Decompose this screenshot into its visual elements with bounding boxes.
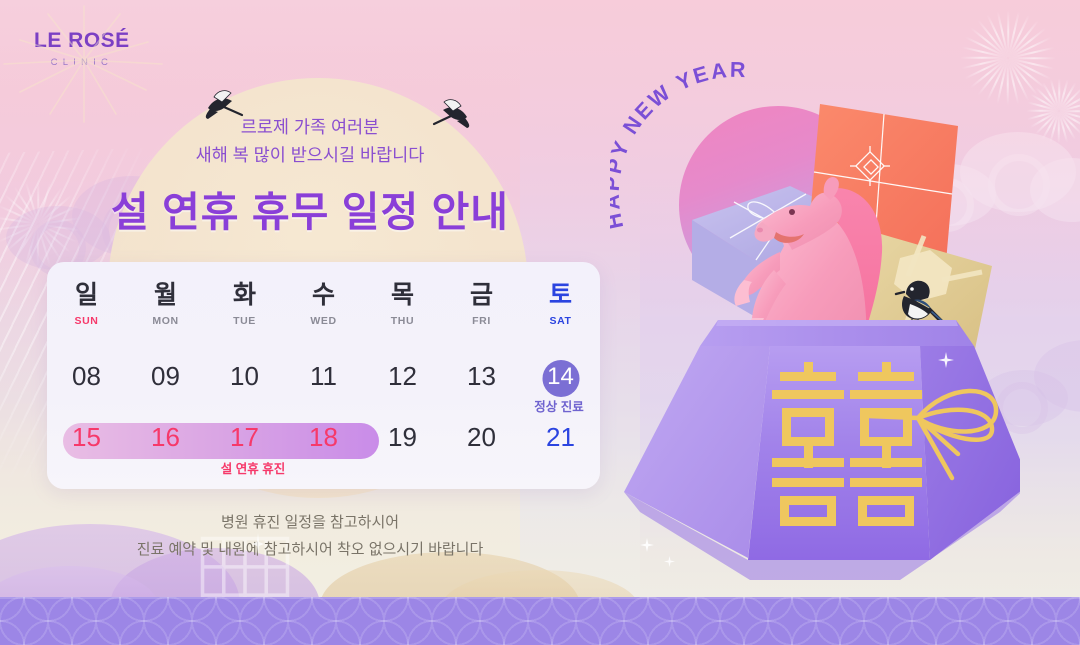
holiday-closed-label: 설 연휴 휴진: [221, 458, 285, 477]
weekday-ko: 수: [284, 283, 363, 308]
date-number: 09: [126, 358, 205, 394]
date-cell-18: 18: [284, 419, 363, 477]
calendar-card: 일 SUN 월 MON 화 TUE 수 WED 목 THU 금 FRI: [47, 262, 600, 489]
sparkle-icon: [252, 533, 264, 555]
weekday-header-fri: 금 FRI: [442, 262, 521, 327]
date-cell-21: 21: [521, 419, 600, 477]
sparkle-icon: [938, 352, 954, 368]
bottom-pattern-band: [0, 597, 1080, 645]
weekday-ko: 월: [126, 283, 205, 308]
date-number: 11: [284, 358, 363, 394]
date-cell-16: 16: [126, 419, 205, 477]
date-number: 14: [521, 358, 600, 395]
weekday-en: THU: [363, 315, 442, 327]
date-number: 16: [126, 419, 205, 455]
weekday-header-mon: 월 MON: [126, 262, 205, 327]
weekday-ko: 일: [47, 283, 126, 308]
date-cell-11: 11: [284, 358, 363, 416]
date-cell-09: 09: [126, 358, 205, 416]
date-number: 21: [521, 419, 600, 455]
date-number: 08: [47, 358, 126, 394]
band-top-edge: [0, 597, 1080, 599]
date-cell-10: 10: [205, 358, 284, 416]
date-number: 17: [205, 419, 284, 455]
date-cell-20: 20: [442, 419, 521, 477]
sparkle-icon: [664, 556, 675, 567]
date-number: 10: [205, 358, 284, 394]
brand-logo[interactable]: LE ROSÉ CLINIC: [34, 30, 130, 68]
date-cell-08: 08: [47, 358, 126, 416]
shippo-pattern: [0, 597, 1080, 645]
logo-rays-icon: [0, 2, 168, 124]
date-cell-19: 19: [363, 419, 442, 477]
date-number: 15: [47, 419, 126, 455]
calendar-week-row: 15 16 17 18 19 20 21: [47, 419, 600, 477]
weekday-en: TUE: [205, 315, 284, 327]
calendar-week-row: 08 09 10 11 12 13 14: [47, 358, 600, 416]
weekday-en: MON: [126, 315, 205, 327]
weekday-en: WED: [284, 315, 363, 327]
poster: LE ROSÉ CLINIC 르로제 가족 여러분 새해 복 많이 받으시길 바…: [0, 0, 1080, 645]
weekday-ko: 토: [521, 283, 600, 308]
weekday-header-tue: 화 TUE: [205, 262, 284, 327]
date-cell-12: 12: [363, 358, 442, 416]
date-cell-13: 13: [442, 358, 521, 416]
page-title: 설 연휴 휴무 일정 안내: [0, 178, 620, 238]
weekday-header-thu: 목 THU: [363, 262, 442, 327]
date-number: 19: [363, 419, 442, 455]
weekday-ko: 화: [205, 283, 284, 308]
normal-hours-label: 정상 진료: [534, 396, 583, 415]
greeting-text: 르로제 가족 여러분 새해 복 많이 받으시길 바랍니다: [0, 113, 620, 170]
weekday-en: SAT: [521, 315, 600, 327]
weekday-ko: 금: [442, 283, 521, 308]
date-number: 13: [442, 358, 521, 394]
weekday-ko: 목: [363, 283, 442, 308]
weekday-en: FRI: [442, 315, 521, 327]
weekday-header-sun: 일 SUN: [47, 262, 126, 327]
sparkle-icon: [640, 538, 654, 552]
date-cell-15: 15: [47, 419, 126, 477]
footer-note: 병원 휴진 일정을 참고하시어 진료 예약 및 내원에 참고하시어 착오 없으시…: [0, 510, 620, 563]
weekday-header-wed: 수 WED: [284, 262, 363, 327]
date-number: 20: [442, 419, 521, 455]
date-number: 12: [363, 358, 442, 394]
date-number: 18: [284, 419, 363, 455]
weekday-en: SUN: [47, 315, 126, 327]
calendar-header-row: 일 SUN 월 MON 화 TUE 수 WED 목 THU 금 FRI: [47, 262, 600, 327]
gift-bag: [600, 312, 1020, 612]
weekday-header-sat: 토 SAT: [521, 262, 600, 327]
